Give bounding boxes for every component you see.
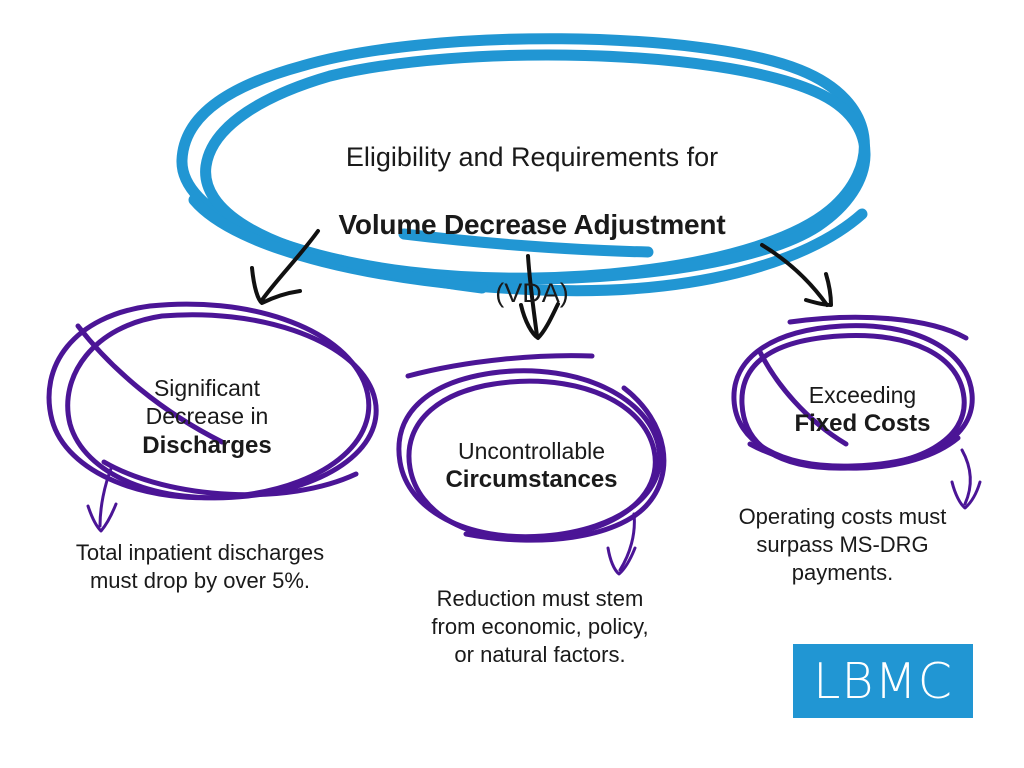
node-3-label-strong: Fixed Costs — [755, 409, 970, 439]
node-label-uncontrollable-circumstances: Uncontrollable Circumstances — [409, 408, 654, 523]
caption-uncontrollable-circumstances: Reduction must stem from economic, polic… — [385, 585, 695, 669]
node-label-significant-decrease-in-discharges: Significant Decrease in Discharges — [82, 345, 332, 489]
node-1-label-strong: Discharges — [82, 431, 332, 461]
title-line-1: Eligibility and Requirements for — [252, 141, 812, 174]
caption-significant-decrease-in-discharges: Total inpatient discharges must drop by … — [20, 539, 380, 595]
lbmc-logo: LBMC — [793, 644, 973, 718]
title-line-2: Volume Decrease Adjustment — [252, 208, 812, 243]
node-3-label-plain: Exceeding — [809, 382, 916, 408]
lbmc-logo-text: LBMC — [813, 653, 953, 710]
node-1-label-plain: Significant Decrease in — [146, 375, 269, 430]
node-2-label-strong: Circumstances — [409, 465, 654, 495]
page-title: Eligibility and Requirements for Volume … — [252, 108, 812, 344]
caption-exceeding-fixed-costs: Operating costs must surpass MS-DRG paym… — [690, 503, 995, 587]
diagram-canvas: Eligibility and Requirements for Volume … — [0, 0, 1024, 768]
node-2-label-plain: Uncontrollable — [458, 438, 605, 464]
node-label-exceeding-fixed-costs: Exceeding Fixed Costs — [755, 352, 970, 467]
title-line-3: (VDA) — [252, 277, 812, 310]
